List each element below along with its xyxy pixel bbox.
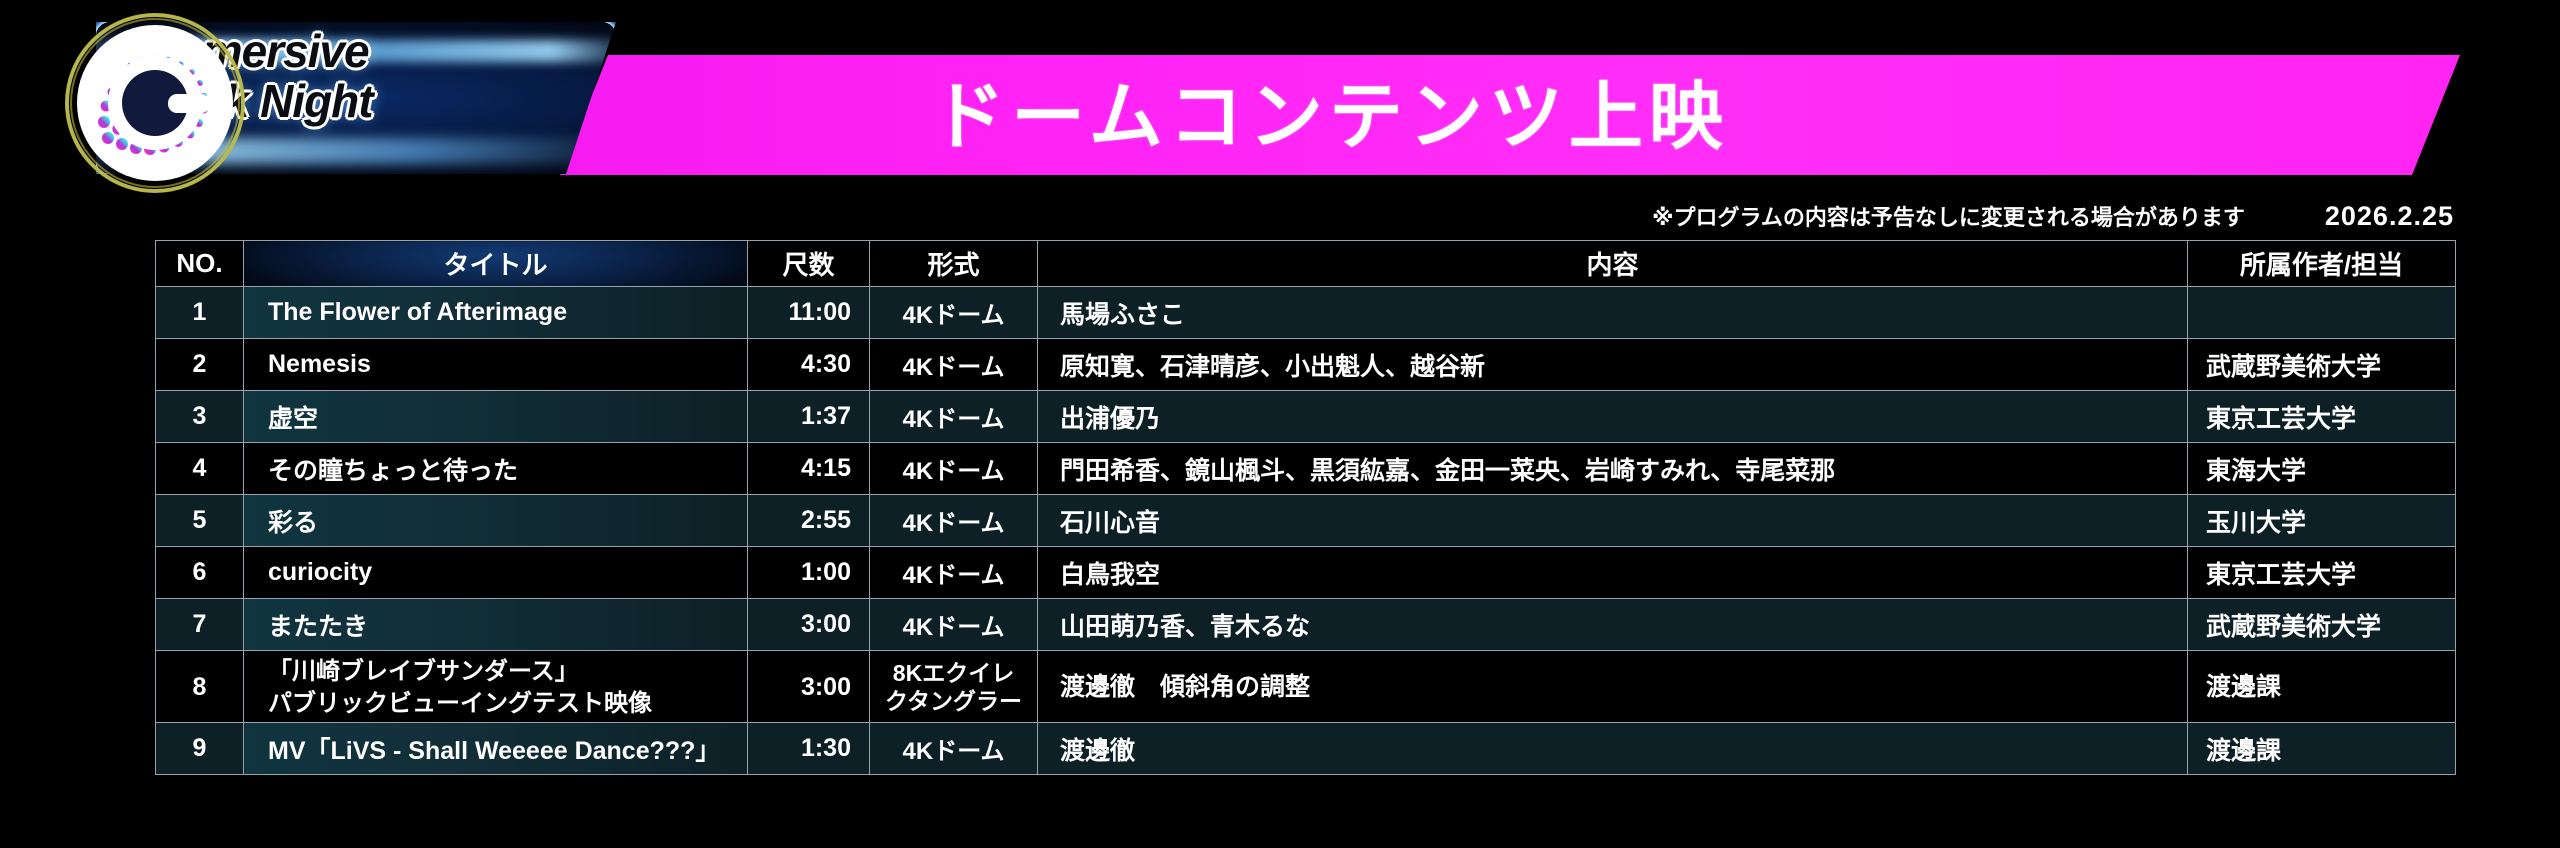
cell-format: 4Kドーム [870,443,1038,495]
cell-format: 4Kドーム [870,391,1038,443]
table-row: 3虚空1:374Kドーム出浦優乃東京工芸大学 [156,391,2456,443]
table-head: NO. タイトル 尺数 形式 内容 所属作者/担当 [156,241,2456,287]
cell-no: 8 [156,651,244,723]
cell-description: 石川心音 [1038,495,2188,547]
cell-title: その瞳ちょっと待った [244,443,748,495]
cell-title: MV「LiVS - Shall Weeeee Dance???」 [244,723,748,775]
table-row: 7またたき3:004Kドーム山田萌乃香、青木るな武蔵野美術大学 [156,599,2456,651]
cell-description: 渡邊徹 傾斜角の調整 [1038,651,2188,723]
column-header-format: 形式 [870,241,1038,287]
header-band: ドームコンテンツ上映 Immersive Dark Night [0,0,2560,230]
cell-no: 1 [156,287,244,339]
cell-description: 門田希香、鏡山楓斗、黒須紘嘉、金田一菜央、岩崎すみれ、寺尾菜那 [1038,443,2188,495]
program-change-notice: ※プログラムの内容は予告なしに変更される場合があります [1652,200,2245,232]
cell-format: 4Kドーム [870,547,1038,599]
cell-length: 1:30 [748,723,870,775]
table-body: 1The Flower of Afterimage11:004Kドーム馬場ふさこ… [156,287,2456,775]
cell-description: 白鳥我空 [1038,547,2188,599]
cell-length: 2:55 [748,495,870,547]
cell-no: 4 [156,443,244,495]
page-title: ドームコンテンツ上映 [931,80,1729,154]
cell-affiliation: 渡邊課 [2188,723,2456,775]
table-row: 2Nemesis4:304Kドーム原知寛、石津晴彦、小出魁人、越谷新武蔵野美術大… [156,339,2456,391]
cell-description: 馬場ふさこ [1038,287,2188,339]
cell-title: またたき [244,599,748,651]
cell-description: 山田萌乃香、青木るな [1038,599,2188,651]
cell-no: 3 [156,391,244,443]
cell-affiliation: 東海大学 [2188,443,2456,495]
table-row: 1The Flower of Afterimage11:004Kドーム馬場ふさこ [156,287,2456,339]
cell-description: 出浦優乃 [1038,391,2188,443]
cell-no: 7 [156,599,244,651]
cell-format: 4Kドーム [870,287,1038,339]
program-table: NO. タイトル 尺数 形式 内容 所属作者/担当 1The Flower of… [155,240,2456,775]
poster-root: ドームコンテンツ上映 Immersive Dark Night [0,0,2560,848]
cell-no: 9 [156,723,244,775]
cell-no: 2 [156,339,244,391]
title-banner: ドームコンテンツ上映 [560,55,2460,175]
cell-title: Nemesis [244,339,748,391]
cell-affiliation: 東京工芸大学 [2188,391,2456,443]
cell-affiliation: 渡邊課 [2188,651,2456,723]
cell-affiliation [2188,287,2456,339]
cell-affiliation: 玉川大学 [2188,495,2456,547]
table-row: 6curiocity1:004Kドーム白鳥我空東京工芸大学 [156,547,2456,599]
cell-length: 4:30 [748,339,870,391]
cell-no: 5 [156,495,244,547]
cell-title: curiocity [244,547,748,599]
column-header-description: 内容 [1038,241,2188,287]
table-row: 5彩る2:554Kドーム石川心音玉川大学 [156,495,2456,547]
program-table-wrap: NO. タイトル 尺数 形式 内容 所属作者/担当 1The Flower of… [155,240,2455,775]
cell-format: 4Kドーム [870,495,1038,547]
cell-format: 4Kドーム [870,723,1038,775]
cell-title: 彩る [244,495,748,547]
table-row: 4その瞳ちょっと待った4:154Kドーム門田希香、鏡山楓斗、黒須紘嘉、金田一菜央… [156,443,2456,495]
cell-description: 渡邊徹 [1038,723,2188,775]
cell-affiliation: 武蔵野美術大学 [2188,599,2456,651]
cell-no: 6 [156,547,244,599]
cell-affiliation: 武蔵野美術大学 [2188,339,2456,391]
notice-row: ※プログラムの内容は予告なしに変更される場合があります 2026.2.25 [0,196,2560,236]
cell-length: 1:37 [748,391,870,443]
column-header-title: タイトル [244,241,748,287]
cell-format: 4Kドーム [870,339,1038,391]
table-row: 9MV「LiVS - Shall Weeeee Dance???」1:304Kド… [156,723,2456,775]
cell-length: 3:00 [748,599,870,651]
table-header-row: NO. タイトル 尺数 形式 内容 所属作者/担当 [156,241,2456,287]
cell-title: 「川崎ブレイブサンダース」パブリックビューイングテスト映像 [244,651,748,723]
halftone-spiral-eye-logomark [60,8,250,198]
cell-description: 原知寛、石津晴彦、小出魁人、越谷新 [1038,339,2188,391]
column-header-no: NO. [156,241,244,287]
column-header-length: 尺数 [748,241,870,287]
cell-format: 4Kドーム [870,599,1038,651]
cell-title: The Flower of Afterimage [244,287,748,339]
cell-length: 11:00 [748,287,870,339]
cell-length: 1:00 [748,547,870,599]
cell-length: 3:00 [748,651,870,723]
cell-title: 虚空 [244,391,748,443]
table-row: 8「川崎ブレイブサンダース」パブリックビューイングテスト映像3:008Kエクイレ… [156,651,2456,723]
cell-length: 4:15 [748,443,870,495]
cell-affiliation: 東京工芸大学 [2188,547,2456,599]
event-date: 2026.2.25 [2325,201,2454,232]
cell-format: 8Kエクイレクタングラー [870,651,1038,723]
column-header-affiliation: 所属作者/担当 [2188,241,2456,287]
